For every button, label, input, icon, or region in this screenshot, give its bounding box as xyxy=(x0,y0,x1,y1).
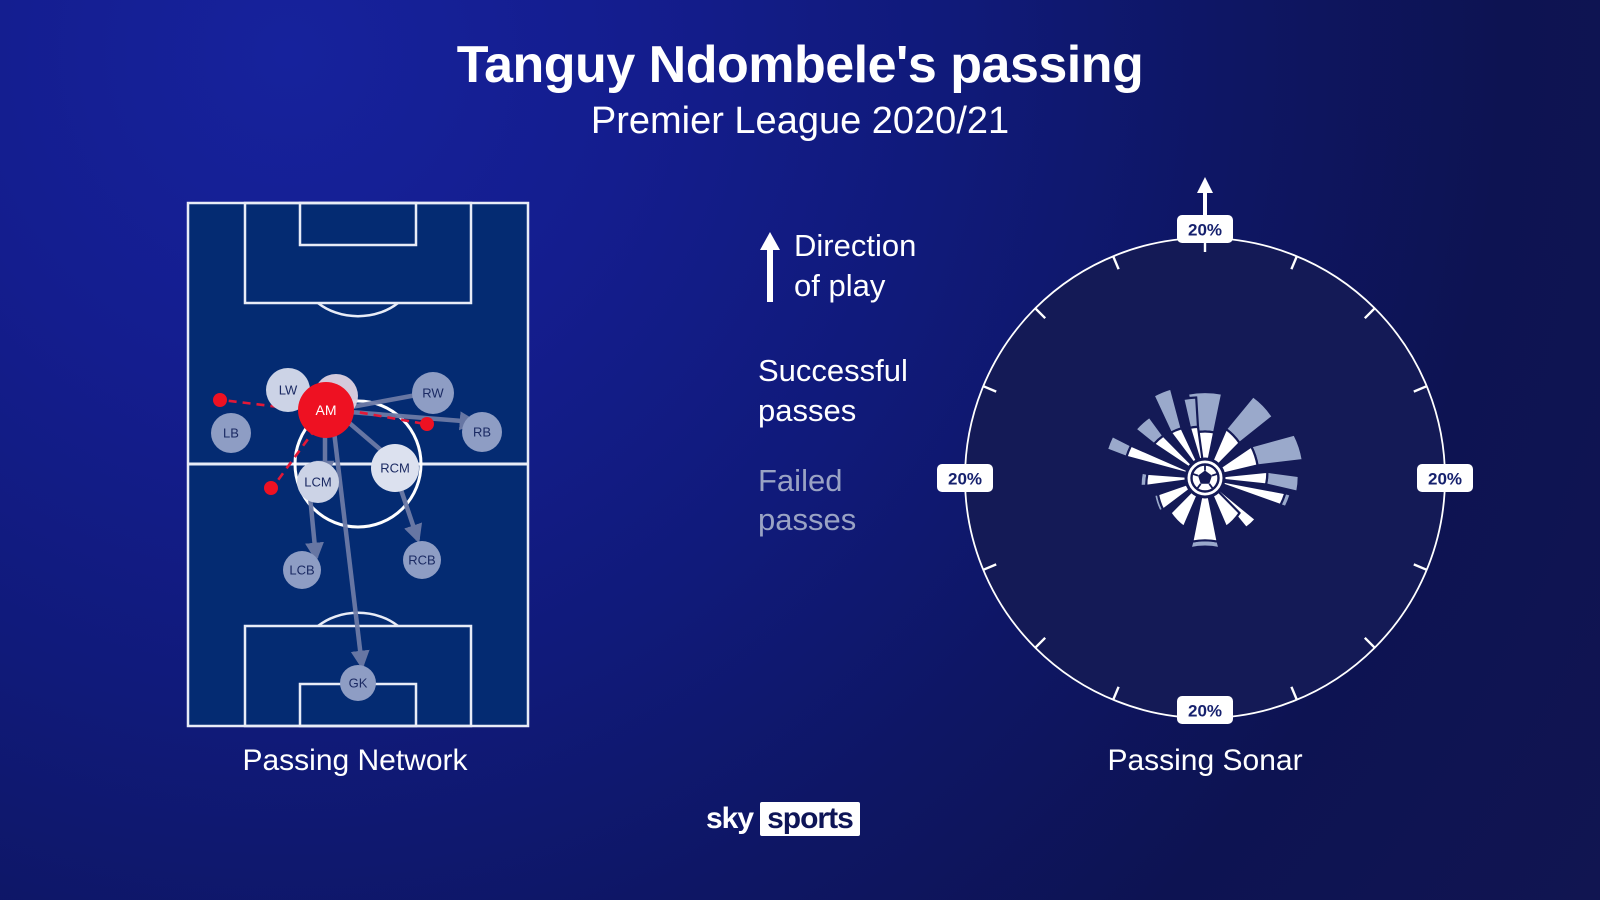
svg-text:20%: 20% xyxy=(1428,470,1462,489)
passing-sonar-caption: Passing Sonar xyxy=(1000,744,1410,778)
page-title: Tanguy Ndombele's passing xyxy=(0,38,1600,93)
player-node-lcm[interactable]: LCM xyxy=(297,461,339,503)
player-node-am-highlight[interactable]: AM xyxy=(298,382,354,438)
player-node-rb[interactable]: RB xyxy=(462,412,502,452)
player-node-rcm[interactable]: RCM xyxy=(371,444,419,492)
svg-text:20%: 20% xyxy=(948,470,982,489)
legend-direction-label: Direction of play xyxy=(794,226,916,305)
passing-network-caption: Passing Network xyxy=(150,744,560,778)
arrow-up-icon xyxy=(758,230,782,304)
player-node-lb[interactable]: LB xyxy=(211,413,251,453)
football-icon xyxy=(1186,459,1224,497)
sports-wordmark: sports xyxy=(760,802,860,836)
sonar-badge-south: 20% xyxy=(1177,696,1233,724)
passing-sonar-chart: 20% 20% 20% 20% xyxy=(930,175,1490,735)
sonar-badge-west: 20% xyxy=(937,464,993,492)
page-subtitle: Premier League 2020/21 xyxy=(0,101,1600,143)
player-node-lcb[interactable]: LCB xyxy=(283,551,321,589)
passing-network-chart: GK LCB RCB LB RB LCM xyxy=(150,180,570,750)
player-node-gk[interactable]: GK xyxy=(340,665,376,701)
sonar-badge-east: 20% xyxy=(1417,464,1473,492)
player-node-rcb[interactable]: RCB xyxy=(403,541,441,579)
sky-wordmark: sky xyxy=(706,802,760,836)
title-block: Tanguy Ndombele's passing Premier League… xyxy=(0,38,1600,142)
sky-sports-logo: sky sports xyxy=(706,802,860,836)
sonar-badge-north: 20% xyxy=(1177,215,1233,243)
svg-text:20%: 20% xyxy=(1188,702,1222,721)
svg-text:20%: 20% xyxy=(1188,221,1222,240)
player-node-rw[interactable]: RW xyxy=(412,372,454,414)
infographic-canvas: Tanguy Ndombele's passing Premier League… xyxy=(0,0,1600,900)
